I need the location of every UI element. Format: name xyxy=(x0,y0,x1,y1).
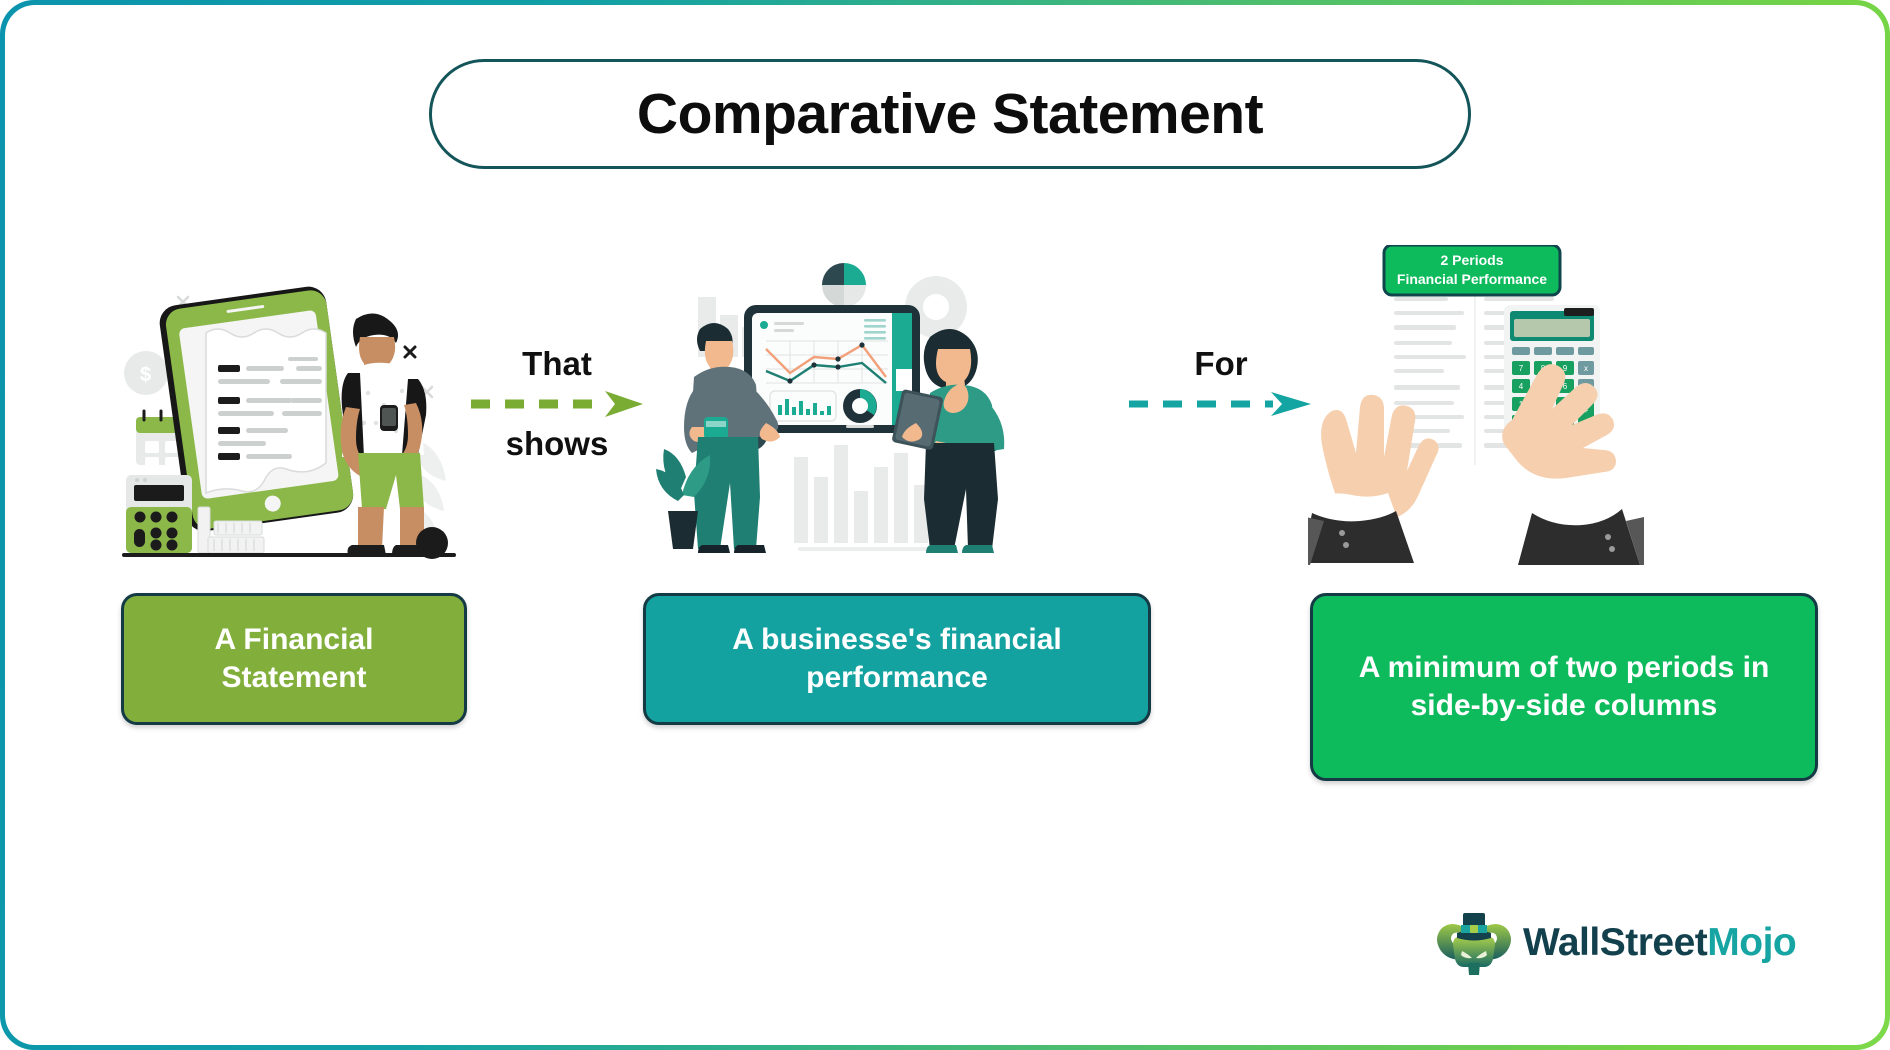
man-with-tablet-financial-statement-icon: $ xyxy=(115,245,465,565)
svg-text:$: $ xyxy=(140,364,151,386)
logo-wordmark-part-1: WallStreet xyxy=(1523,921,1707,964)
page-title-box: Comparative Statement xyxy=(429,59,1471,169)
step-2-label: A businesse's financial performance xyxy=(660,621,1134,698)
two-people-analyzing-charts-icon xyxy=(643,245,1013,565)
step-1-label: A Financial Statement xyxy=(138,621,450,698)
wallstreetmojo-logo[interactable]: WallStreetMojo xyxy=(1437,903,1796,982)
step-2-illustration-column xyxy=(643,245,1013,565)
connector-1: That shows xyxy=(467,345,647,463)
svg-text:4: 4 xyxy=(1519,382,1524,391)
dashed-arrow-right-icon xyxy=(1125,389,1317,419)
svg-text:7: 7 xyxy=(1519,364,1524,373)
connector-2: For xyxy=(1125,345,1317,419)
connector-2-label-top: For xyxy=(1125,345,1317,383)
badge-line-1: 2 Periods xyxy=(1440,252,1503,268)
step-3-label-box[interactable]: A minimum of two periods in side-by-side… xyxy=(1310,593,1818,781)
connector-1-label-top: That xyxy=(467,345,647,383)
logo-wordmark-part-2: Mojo xyxy=(1707,921,1796,964)
logo-wordmark: WallStreetMojo xyxy=(1523,921,1796,965)
infographic-frame: Comparative Statement xyxy=(0,0,1890,1050)
step-3-label: A minimum of two periods in side-by-side… xyxy=(1327,649,1801,726)
connector-1-label-bottom: shows xyxy=(467,425,647,463)
infographic-canvas: Comparative Statement xyxy=(5,5,1885,1045)
svg-text:x: x xyxy=(1584,364,1588,373)
dashed-arrow-right-icon xyxy=(467,389,647,419)
page-title: Comparative Statement xyxy=(637,81,1263,147)
badge-line-2: Financial Performance xyxy=(1397,271,1547,287)
step-2-label-box[interactable]: A businesse's financial performance xyxy=(643,593,1151,725)
step-1-illustration-column: $ xyxy=(115,245,465,565)
step-1-label-box[interactable]: A Financial Statement xyxy=(121,593,467,725)
step-3-illustration-column: 789 x 456 - 123 + 0.= xyxy=(1303,245,1653,565)
hands-with-calculator-two-column-report-icon: 789 x 456 - 123 + 0.= xyxy=(1303,245,1653,565)
bull-with-top-hat-icon xyxy=(1437,903,1511,982)
